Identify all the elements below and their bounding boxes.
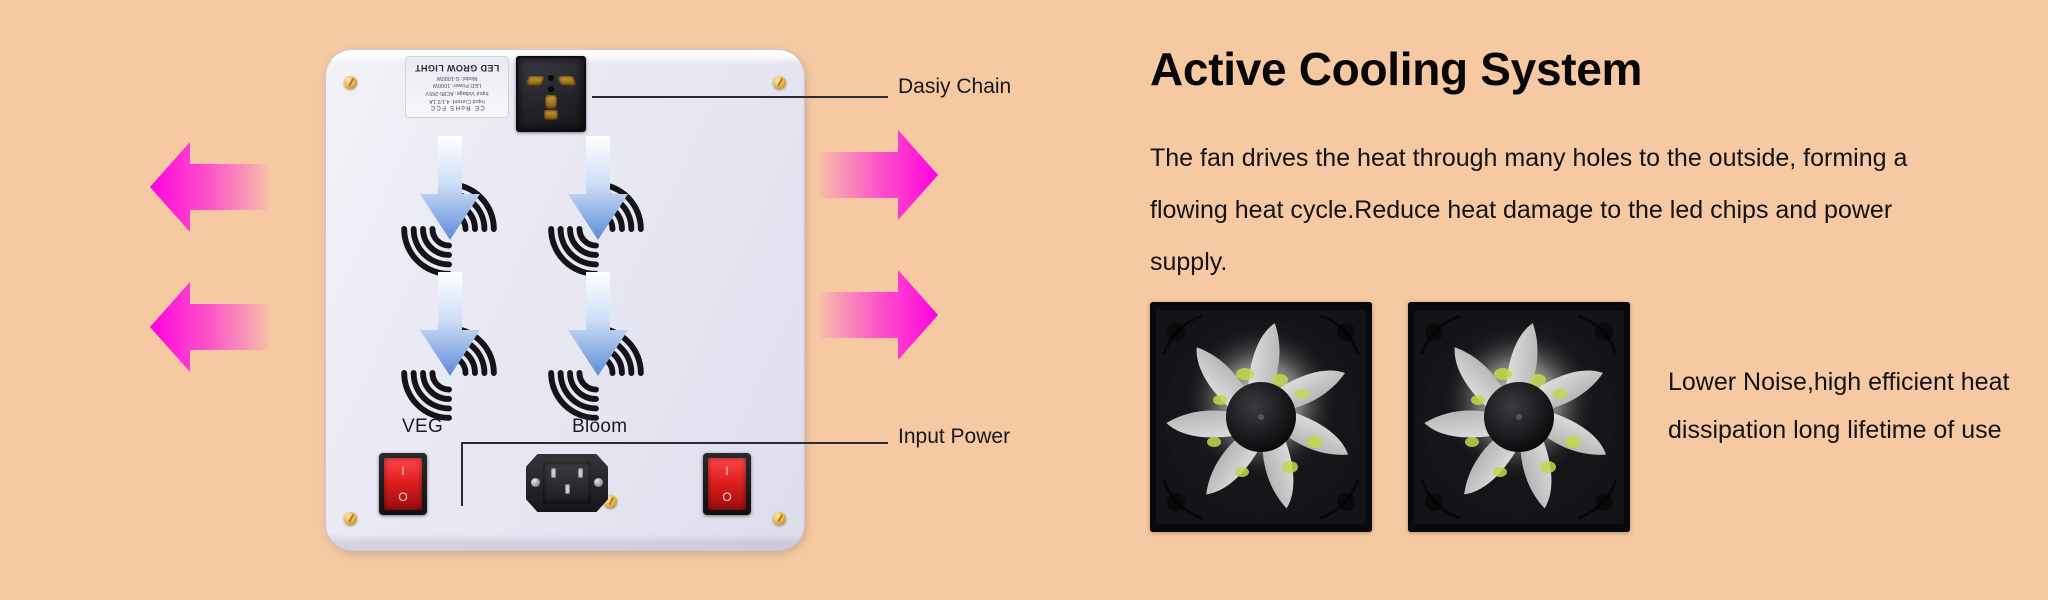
- fan-caption: Lower Noise,high efficient heat dissipat…: [1668, 358, 2048, 454]
- inlet-pin: [578, 468, 583, 478]
- cooling-fan-photo-1: [1150, 302, 1372, 532]
- leader-line-input-power-vertical: [461, 442, 463, 506]
- rocker-cap: I O: [708, 458, 746, 510]
- rocker-on-marking: I: [401, 465, 404, 477]
- sticker-title: LED GROW LIGHT: [415, 63, 500, 73]
- sticker-line: Input Voltage: AC85-265V: [425, 89, 488, 97]
- infographic-canvas: CE RoHS FCC Input Current: 4.1/2.1A Inpu…: [0, 0, 2048, 600]
- bloom-switch-label: Bloom: [572, 416, 627, 438]
- description-paragraph: The fan drives the heat through many hol…: [1150, 132, 1970, 288]
- iec-power-inlet[interactable]: [526, 454, 608, 512]
- socket-slot: [557, 76, 576, 86]
- inlet-screw: [594, 478, 603, 487]
- callout-label-daisy-chain: Dasiy Chain: [898, 75, 1011, 99]
- sticker-line: Model: S-1000W: [437, 73, 478, 81]
- socket-slot: [544, 110, 558, 120]
- leader-line-daisy-chain: [592, 96, 888, 98]
- sticker-certifications: CE RoHS FCC: [429, 104, 484, 110]
- panel-screw: [344, 512, 357, 525]
- sticker-line: LED Power: 1000W: [433, 81, 481, 89]
- panel-screw: [773, 76, 786, 89]
- panel-screw: [344, 76, 357, 89]
- heat-exhaust-arrow-icon: [820, 268, 938, 362]
- heat-exhaust-arrow-icon: [820, 128, 938, 222]
- rocker-off-marking: O: [722, 491, 731, 503]
- inlet-pin: [551, 468, 556, 478]
- heat-exhaust-arrow-icon: [150, 280, 268, 374]
- rocker-on-marking: I: [725, 465, 728, 477]
- daisy-chain-socket[interactable]: [516, 56, 586, 132]
- leader-line-input-power-horizontal: [461, 442, 888, 444]
- page-title: Active Cooling System: [1150, 42, 1642, 96]
- heat-exhaust-arrow-icon: [150, 140, 268, 234]
- spec-sticker: CE RoHS FCC Input Current: 4.1/2.1A Inpu…: [405, 56, 509, 118]
- product-photo: CE RoHS FCC Input Current: 4.1/2.1A Inpu…: [326, 50, 804, 550]
- rocker-off-marking: O: [398, 491, 407, 503]
- cooling-fan-photo-2: [1408, 302, 1630, 532]
- air-intake-arrow-icon: [418, 272, 482, 384]
- sticker-line: Input Current: 4.1/2.1A: [429, 96, 485, 104]
- inlet-screw: [531, 478, 540, 487]
- socket-slot: [525, 76, 544, 86]
- socket-hole: [548, 86, 554, 92]
- panel-screw: [773, 512, 786, 525]
- bloom-rocker-switch[interactable]: I O: [703, 453, 751, 515]
- veg-rocker-switch[interactable]: I O: [379, 453, 427, 515]
- socket-slot: [545, 95, 557, 109]
- callout-label-input-power: Input Power: [898, 425, 1010, 449]
- air-intake-arrow-icon: [566, 136, 630, 248]
- air-intake-arrow-icon: [418, 136, 482, 248]
- rocker-cap: I O: [384, 458, 422, 510]
- right-content-column: Active Cooling System The fan drives the…: [1150, 0, 2048, 600]
- inlet-pin: [565, 484, 570, 494]
- veg-switch-label: VEG: [402, 416, 443, 438]
- air-intake-arrow-icon: [566, 272, 630, 384]
- socket-hole: [548, 75, 554, 81]
